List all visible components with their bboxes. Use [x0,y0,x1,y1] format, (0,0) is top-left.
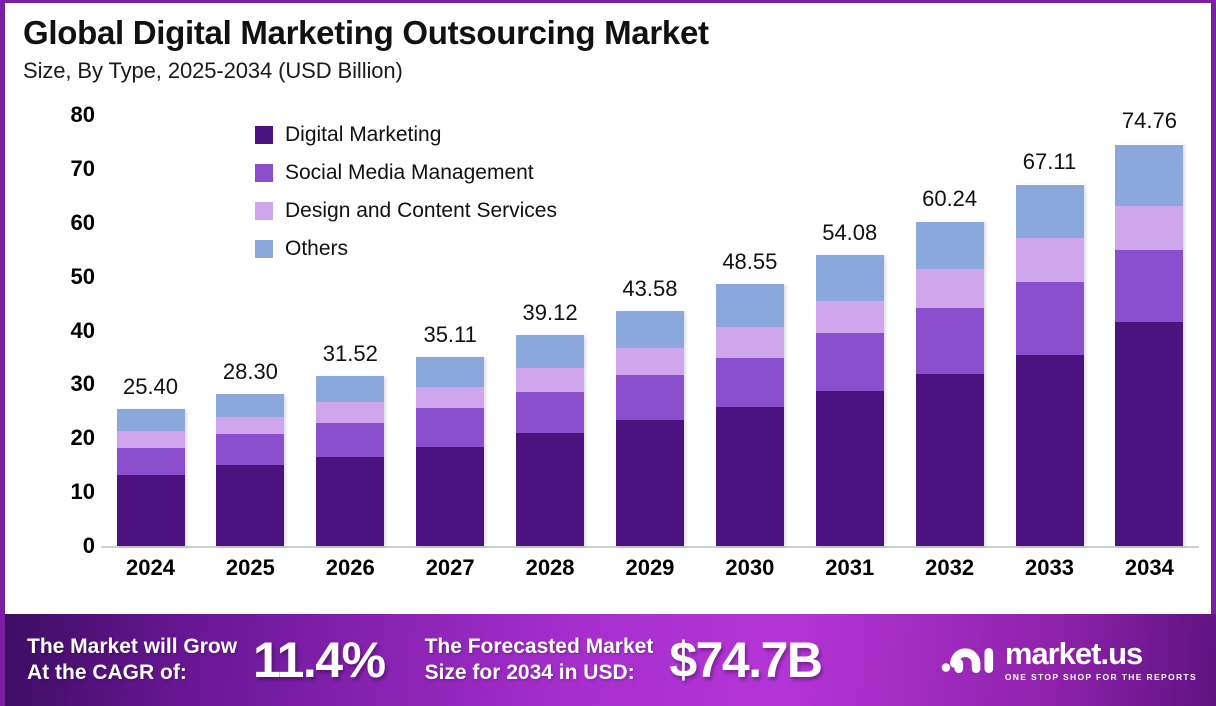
x-axis-tick: 2029 [600,555,699,581]
bar-segment[interactable] [216,434,284,465]
bar-segment[interactable] [716,407,784,546]
legend-label: Digital Marketing [285,123,441,147]
y-axis-tick: 20 [33,425,95,451]
bar-segment[interactable] [616,420,684,546]
brand-name: market.us [1005,638,1197,669]
stacked-bar[interactable] [916,221,984,546]
bar-total-label: 25.40 [123,374,178,400]
x-axis-tick: 2028 [501,555,600,581]
x-axis-tick: 2026 [301,555,400,581]
x-axis: 2024202520262027202820292030203120322033… [101,555,1199,581]
market-us-logo-icon [941,640,995,680]
legend-label: Design and Content Services [285,199,557,223]
forecast-caption-line-1: The Forecasted Market [425,634,654,660]
forecast-block: The Forecasted Market Size for 2034 in U… [425,631,822,689]
bar-segment[interactable] [1115,250,1183,322]
stacked-bar[interactable] [616,311,684,546]
y-axis-tick: 10 [33,479,95,505]
cagr-caption-line-1: The Market will Grow [27,634,237,660]
bar-segment[interactable] [816,333,884,391]
cagr-value: 11.4% [253,631,385,689]
bar-segment[interactable] [416,387,484,409]
cagr-block: The Market will Grow At the CAGR of: 11.… [27,631,385,689]
bar-segment[interactable] [1115,322,1183,546]
legend-item[interactable]: Others [255,237,557,261]
x-axis-tick: 2027 [401,555,500,581]
legend-swatch-icon [255,126,273,144]
x-axis-line [101,546,1199,548]
bar-segment[interactable] [316,423,384,457]
stacked-bar[interactable] [516,335,584,546]
bar-group[interactable]: 43.58 [600,115,699,546]
stacked-bar[interactable] [716,284,784,546]
y-axis-tick: 50 [33,264,95,290]
bar-group[interactable]: 48.55 [700,115,799,546]
chart-header: Global Digital Marketing Outsourcing Mar… [5,3,1211,84]
bar-segment[interactable] [716,358,784,408]
bar-segment[interactable] [416,357,484,387]
x-axis-tick: 2032 [900,555,999,581]
x-axis-tick: 2025 [201,555,300,581]
forecast-caption-line-2: Size for 2034 in USD: [425,660,654,686]
bar-segment[interactable] [716,284,784,327]
bar-segment[interactable] [1016,185,1084,239]
bar-segment[interactable] [416,447,484,546]
bar-segment[interactable] [916,308,984,374]
y-axis-tick: 60 [33,210,95,236]
page-title: Global Digital Marketing Outsourcing Mar… [23,15,1211,52]
y-axis-tick: 70 [33,156,95,182]
bar-segment[interactable] [117,448,185,475]
bar-segment[interactable] [117,409,185,431]
stacked-bar[interactable] [1115,143,1183,546]
bar-total-label: 54.08 [822,220,877,246]
bar-segment[interactable] [816,301,884,333]
footer-banner: The Market will Grow At the CAGR of: 11.… [5,614,1216,706]
bar-total-label: 35.11 [423,322,476,348]
legend-item[interactable]: Social Media Management [255,161,557,185]
bar-segment[interactable] [516,335,584,367]
stacked-bar[interactable] [216,394,284,546]
legend-swatch-icon [255,240,273,258]
y-axis-tick: 30 [33,371,95,397]
bar-segment[interactable] [416,408,484,447]
bar-segment[interactable] [1016,355,1084,546]
bar-segment[interactable] [816,255,884,301]
bar-segment[interactable] [216,394,284,417]
forecast-value: $74.7B [669,631,821,689]
x-axis-tick: 2024 [101,555,200,581]
chart-subtitle: Size, By Type, 2025-2034 (USD Billion) [23,58,1211,84]
bar-group[interactable]: 60.24 [900,115,999,546]
x-axis-tick: 2030 [700,555,799,581]
chart-legend: Digital MarketingSocial Media Management… [255,123,557,261]
brand-text: market.us ONE STOP SHOP FOR THE REPORTS [1005,638,1197,682]
bar-segment[interactable] [916,374,984,546]
bar-total-label: 60.24 [922,186,977,212]
bar-segment[interactable] [117,475,185,546]
bar-segment[interactable] [316,376,384,402]
bar-total-label: 48.55 [722,249,777,275]
bar-segment[interactable] [616,348,684,375]
legend-label: Others [285,237,348,261]
legend-item[interactable]: Design and Content Services [255,199,557,223]
legend-label: Social Media Management [285,161,534,185]
bar-segment[interactable] [516,433,584,546]
bar-group[interactable]: 25.40 [101,115,200,546]
legend-item[interactable]: Digital Marketing [255,123,557,147]
cagr-caption-line-2: At the CAGR of: [27,660,237,686]
bar-segment[interactable] [1115,145,1183,205]
x-axis-tick: 2033 [1000,555,1099,581]
bar-segment[interactable] [516,392,584,433]
bar-segment[interactable] [516,368,584,393]
y-axis-tick: 0 [33,533,95,559]
bar-total-label: 67.11 [1023,149,1076,175]
bar-segment[interactable] [1016,238,1084,282]
bar-group[interactable]: 74.76 [1100,115,1199,546]
y-axis: 01020304050607080 [33,115,95,547]
bar-total-label: 39.12 [523,300,578,326]
x-axis-tick: 2031 [800,555,899,581]
bar-group[interactable]: 67.11 [1000,115,1099,546]
forecast-caption: The Forecasted Market Size for 2034 in U… [425,634,654,685]
bar-group[interactable]: 54.08 [800,115,899,546]
bar-segment[interactable] [1016,282,1084,355]
bar-segment[interactable] [117,431,185,448]
stacked-bar[interactable] [816,255,884,546]
y-axis-tick: 80 [33,102,95,128]
bar-segment[interactable] [316,402,384,422]
stacked-bar[interactable] [117,409,185,546]
brand-logo[interactable]: market.us ONE STOP SHOP FOR THE REPORTS [941,638,1203,682]
cagr-caption: The Market will Grow At the CAGR of: [27,634,237,685]
bar-total-label: 28.30 [223,359,278,385]
bar-segment[interactable] [816,391,884,546]
y-axis-tick: 40 [33,318,95,344]
bar-segment[interactable] [1115,206,1183,251]
bar-total-label: 74.76 [1122,108,1177,134]
bar-total-label: 43.58 [622,276,677,302]
brand-tagline: ONE STOP SHOP FOR THE REPORTS [1005,672,1197,682]
bar-total-label: 31.52 [323,341,378,367]
bar-segment[interactable] [216,465,284,546]
bar-segment[interactable] [916,222,984,269]
plot-area: 01020304050607080 25.4028.3031.5235.1139… [5,115,1211,603]
legend-swatch-icon [255,202,273,220]
chart-page: Global Digital Marketing Outsourcing Mar… [0,0,1216,706]
stacked-bar[interactable] [416,357,484,546]
stacked-bar[interactable] [316,376,384,546]
stacked-bar[interactable] [1016,184,1084,546]
bar-segment[interactable] [716,327,784,358]
bar-segment[interactable] [616,375,684,420]
legend-swatch-icon [255,164,273,182]
bar-segment[interactable] [216,417,284,435]
bar-segment[interactable] [316,457,384,546]
bar-segment[interactable] [916,269,984,308]
bar-segment[interactable] [616,311,684,348]
x-axis-tick: 2034 [1100,555,1199,581]
